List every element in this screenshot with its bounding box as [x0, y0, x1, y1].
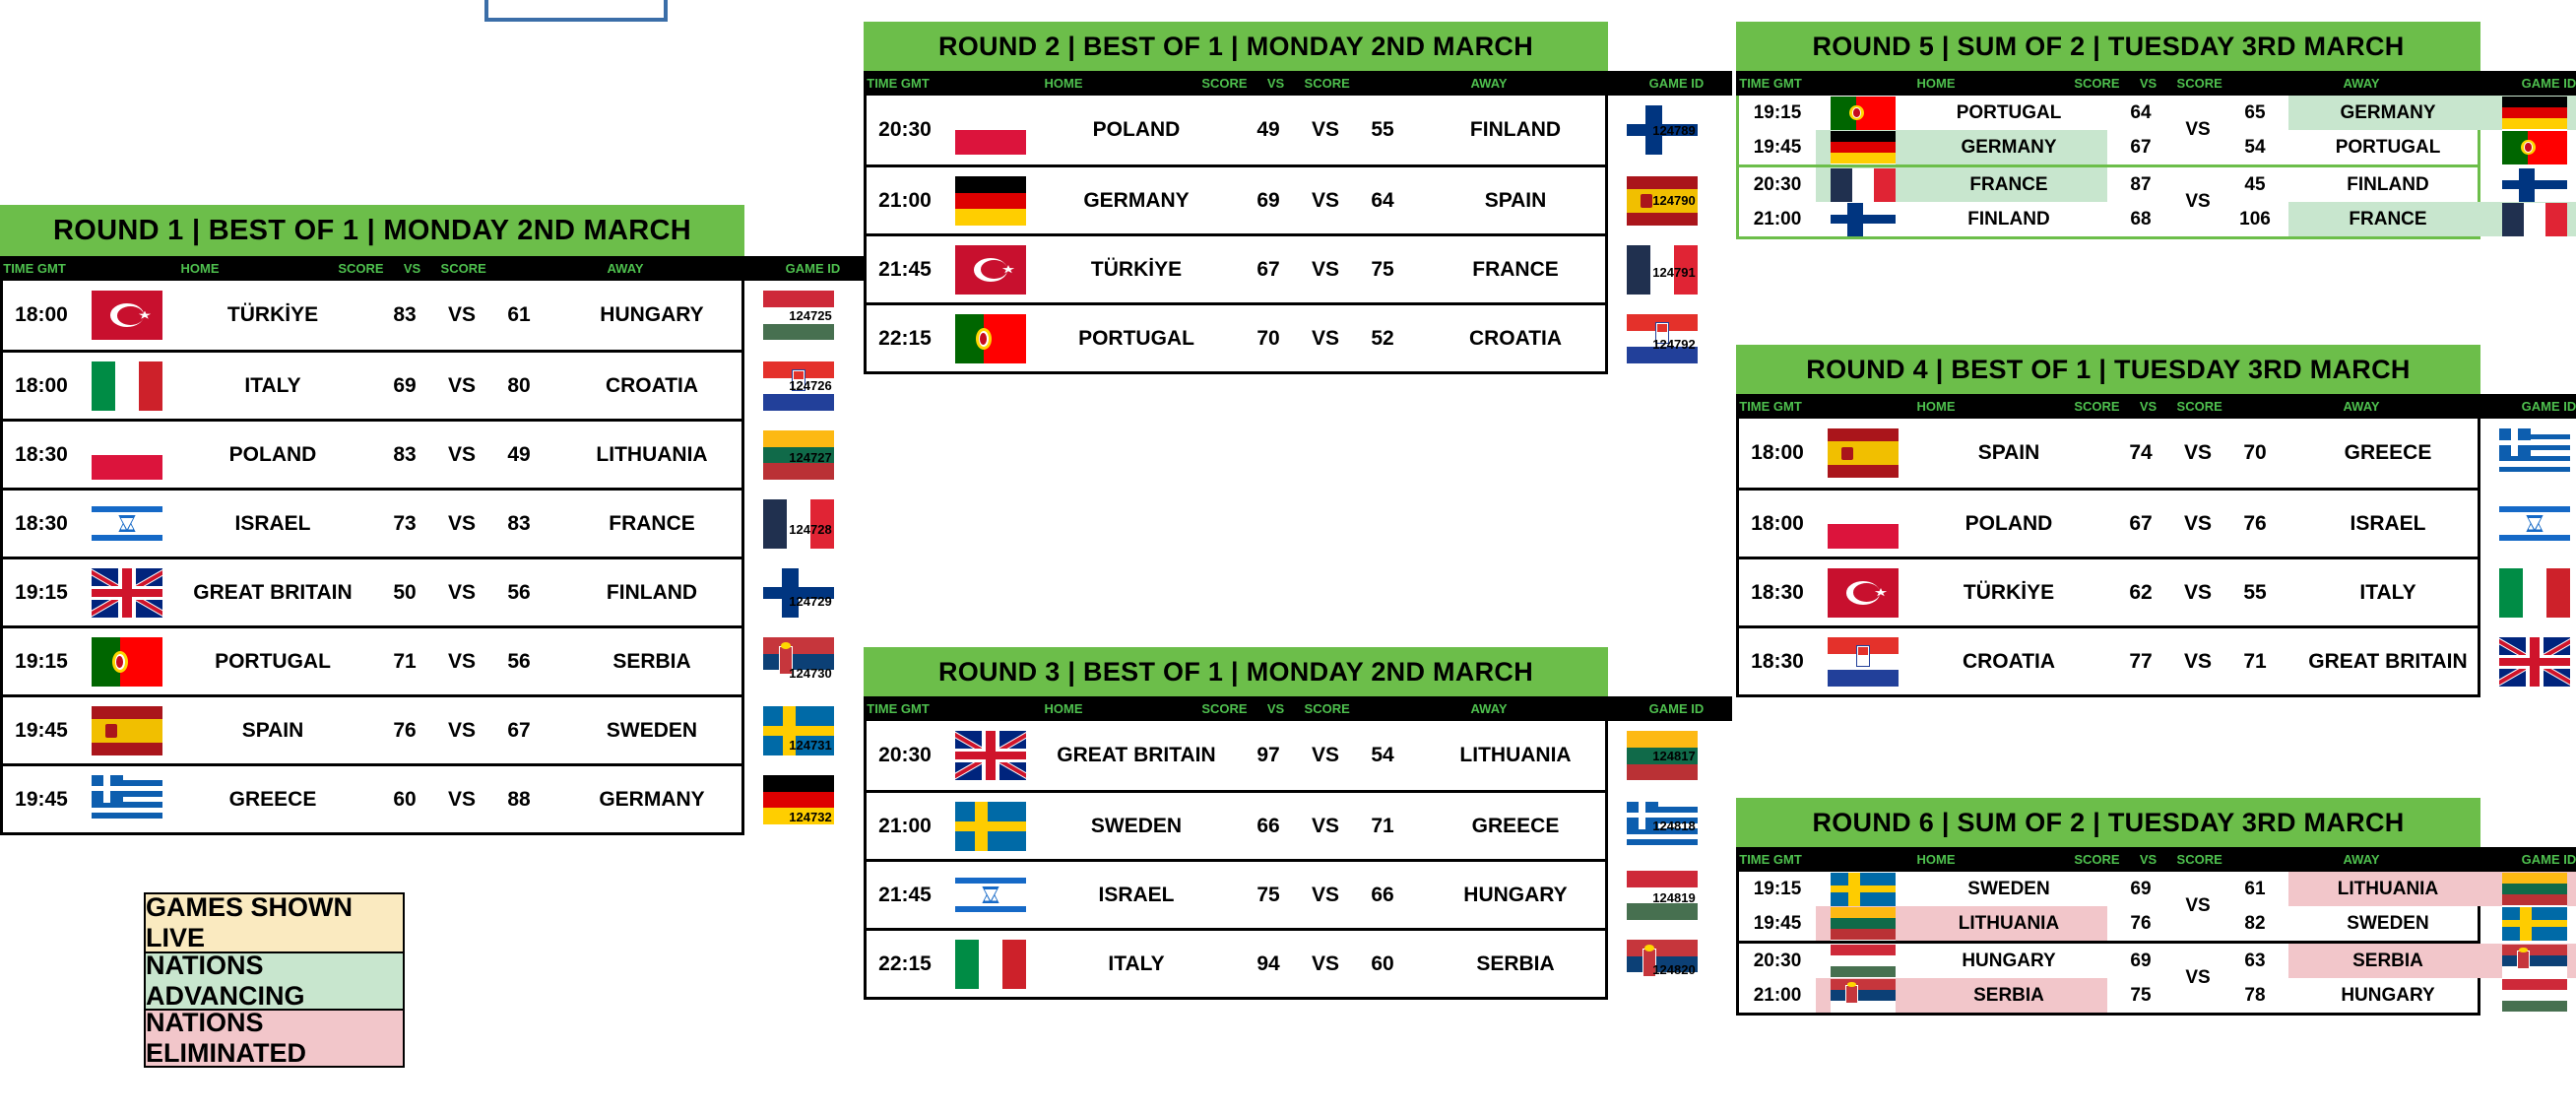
aggregate-tie: 19:15PORTUGAL6465GERMANY19:45GERMANY6754…	[1739, 96, 2478, 164]
flag-il	[92, 499, 162, 549]
home-flag-cell	[943, 96, 1038, 164]
flag-gb	[955, 731, 1026, 780]
away-team-name: FRANCE	[1416, 236, 1615, 302]
flag-se	[2502, 907, 2567, 941]
home-flag-cell	[80, 491, 174, 557]
match-time: 20:30	[867, 744, 943, 767]
home-team-name: TÜRKİYE	[1910, 559, 2107, 625]
column-header-score: SCORE	[2067, 399, 2127, 414]
away-team-name: HUNGARY	[552, 281, 751, 350]
home-team-name: SPAIN	[174, 697, 371, 763]
home-team-name: ITALY	[174, 353, 371, 419]
away-team-name: SERBIA	[552, 628, 751, 694]
home-score: 76	[2107, 913, 2174, 935]
flag-hu	[2502, 979, 2567, 1013]
home-score: 69	[2107, 951, 2174, 972]
match-row[interactable]: 21:45TÜRKİYE67VS75FRANCE	[867, 233, 1605, 302]
away-score: 65	[2222, 102, 2288, 124]
away-team-name: FRANCE	[552, 491, 751, 557]
round-block-round1: ROUND 1 | BEST OF 1 | MONDAY 2ND MARCHTI…	[0, 205, 869, 835]
away-team-name: PORTUGAL	[2288, 130, 2487, 164]
home-score: 67	[1235, 258, 1302, 282]
flag-fr	[2502, 203, 2567, 236]
home-score: 94	[1235, 952, 1302, 976]
match-time: 18:30	[1739, 650, 1816, 674]
match-time: 21:00	[867, 189, 943, 213]
home-score: 71	[371, 650, 438, 674]
match-time: 18:30	[3, 443, 80, 467]
flag-pl	[1828, 499, 1899, 549]
column-header-time: TIME GMT	[864, 701, 933, 716]
match-row[interactable]: 19:15PORTUGAL71VS56SERBIA	[3, 625, 741, 694]
column-header-time: TIME GMT	[1736, 399, 1805, 414]
away-team-name: FINLAND	[1416, 96, 1615, 164]
match-time: 20:30	[1739, 174, 1816, 196]
column-header-vs: VS	[1255, 76, 1297, 91]
flag-il	[955, 871, 1026, 920]
away-score: 61	[485, 303, 552, 327]
game-id-column: 124789124790124791124792	[1632, 96, 1716, 380]
column-header-vs: VS	[391, 261, 433, 276]
match-row[interactable]: 21:00SERBIA7578HUNGARY	[1739, 978, 2478, 1013]
away-score: 60	[1349, 952, 1416, 976]
home-flag-cell	[1816, 202, 1910, 236]
game-id-value	[2504, 488, 2576, 559]
flag-se	[955, 802, 1026, 851]
flag-pt	[1831, 97, 1896, 130]
table-column-header-row: TIME GMTHOMESCOREVSSCOREAWAYGAME ID	[0, 256, 869, 281]
match-row[interactable]: 20:30POLAND49VS55FINLAND	[867, 96, 1605, 164]
match-row[interactable]: 21:00FINLAND68106FRANCE	[1739, 202, 2478, 236]
away-team-name: SERBIA	[2288, 944, 2487, 978]
match-row[interactable]: 19:15GREAT BRITAIN50VS56FINLAND	[3, 557, 741, 625]
game-id-value: 124726	[768, 350, 853, 422]
match-row[interactable]: 18:30ISRAEL73VS83FRANCE	[3, 488, 741, 557]
home-flag-cell	[80, 766, 174, 832]
home-flag-cell	[1816, 978, 1910, 1013]
flag-it	[92, 361, 162, 411]
away-team-name: CROATIA	[1416, 305, 1615, 371]
match-time: 20:30	[867, 118, 943, 142]
away-score: 54	[2222, 137, 2288, 159]
vs-label: VS	[2174, 512, 2222, 536]
match-time: 21:45	[867, 884, 943, 907]
home-flag-cell	[1816, 944, 1910, 978]
column-header-home: HOME	[1805, 76, 2067, 91]
home-score: 67	[2107, 512, 2174, 536]
game-id-value: 124819	[1632, 862, 1716, 934]
match-row[interactable]: 18:30TÜRKİYE62VS55ITALY	[1739, 557, 2478, 625]
match-row[interactable]: 21:45ISRAEL75VS66HUNGARY	[867, 859, 1605, 928]
home-team-name: TÜRKİYE	[174, 281, 371, 350]
round-title: ROUND 1 | BEST OF 1 | MONDAY 2ND MARCH	[0, 205, 744, 256]
matches-table: 20:30POLAND49VS55FINLAND21:00GERMANY69VS…	[864, 96, 1608, 374]
game-id-column	[2504, 419, 2576, 703]
vs-label: VS	[438, 443, 485, 467]
home-team-name: POLAND	[1910, 491, 2107, 557]
vs-label: VS	[1302, 884, 1349, 907]
away-score: 54	[1349, 744, 1416, 767]
home-team-name: HUNGARY	[1910, 944, 2107, 978]
away-score: 88	[485, 788, 552, 812]
home-flag-cell	[1816, 419, 1910, 488]
away-flag-cell	[2487, 944, 2576, 978]
game-id-value: 124818	[1632, 790, 1716, 862]
column-header-home: HOME	[933, 76, 1194, 91]
match-row[interactable]: 20:30GREAT BRITAIN97VS54LITHUANIA	[867, 721, 1605, 790]
home-flag-cell	[943, 305, 1038, 371]
away-score: 52	[1349, 327, 1416, 351]
away-score: 56	[485, 650, 552, 674]
away-score: 76	[2222, 512, 2288, 536]
home-team-name: FINLAND	[1910, 202, 2107, 236]
away-flag-cell	[2487, 906, 2576, 941]
game-id-column: 1247251247261247271247281247291247301247…	[768, 281, 853, 853]
game-id-value: 124728	[768, 493, 853, 565]
away-team-name: GREECE	[1416, 793, 1615, 859]
column-header-time: TIME GMT	[0, 261, 69, 276]
match-row[interactable]: 18:00POLAND67VS76ISRAEL	[1739, 488, 2478, 557]
away-team-name: GREAT BRITAIN	[2288, 628, 2487, 694]
legend-item-live: GAMES SHOWN LIVE	[146, 894, 403, 951]
column-header-vs: VS	[1255, 701, 1297, 716]
vs-label: VS	[438, 303, 485, 327]
match-time: 19:15	[3, 581, 80, 605]
home-score: 83	[371, 443, 438, 467]
flag-pt	[955, 314, 1026, 363]
flag-es	[92, 706, 162, 755]
flag-fi	[1831, 203, 1896, 236]
home-score: 76	[371, 719, 438, 743]
home-flag-cell	[943, 862, 1038, 928]
home-team-name: SPAIN	[1910, 419, 2107, 488]
home-flag-cell	[1816, 491, 1910, 557]
home-flag-cell	[943, 167, 1038, 233]
away-team-name: SWEDEN	[2288, 906, 2487, 941]
column-header-away: AWAY	[2229, 76, 2493, 91]
home-flag-cell	[80, 559, 174, 625]
round-block-round2: ROUND 2 | BEST OF 1 | MONDAY 2ND MARCHTI…	[864, 22, 1732, 374]
aggregate-tie: 20:30FRANCE8745FINLAND21:00FINLAND68106F…	[1739, 164, 2478, 236]
column-header-score: SCORE	[2067, 76, 2127, 91]
game-id-value: 124789	[1632, 96, 1716, 164]
away-score: 55	[2222, 581, 2288, 605]
away-flag-cell	[2487, 978, 2576, 1013]
away-team-name: LITHUANIA	[2288, 872, 2487, 906]
home-flag-cell	[1816, 872, 1910, 906]
matches-table: 20:30GREAT BRITAIN97VS54LITHUANIA21:00SW…	[864, 721, 1608, 1000]
match-row[interactable]: 18:00ITALY69VS80CROATIA	[3, 350, 741, 419]
game-id-value: 124727	[768, 422, 853, 493]
flag-pl	[955, 105, 1026, 155]
game-id-value: 124792	[1632, 308, 1716, 380]
home-team-name: GREECE	[174, 766, 371, 832]
home-team-name: GERMANY	[1038, 167, 1235, 233]
vs-label: VS	[2174, 167, 2222, 236]
home-flag-cell	[1816, 130, 1910, 164]
match-time: 19:45	[1739, 913, 1816, 935]
away-score: 71	[2222, 650, 2288, 674]
home-team-name: POLAND	[1038, 96, 1235, 164]
round-block-round4: ROUND 4 | BEST OF 1 | TUESDAY 3RD MARCHT…	[1736, 345, 2576, 697]
column-header-score: SCORE	[2067, 852, 2127, 867]
away-team-name: LITHUANIA	[1416, 721, 1615, 790]
away-score: 75	[1349, 258, 1416, 282]
away-team-name: HUNGARY	[1416, 862, 1615, 928]
match-time: 18:00	[1739, 441, 1816, 465]
home-flag-cell	[1816, 167, 1910, 202]
flag-de	[2502, 97, 2567, 130]
flag-pt	[2502, 131, 2567, 164]
flag-rs	[2502, 945, 2567, 978]
game-id-value: 124725	[768, 281, 853, 350]
column-header-game_id: GAME ID	[1621, 701, 1732, 716]
match-time: 19:15	[1739, 879, 1816, 900]
column-header-away: AWAY	[2229, 852, 2493, 867]
home-flag-cell	[80, 628, 174, 694]
match-time: 22:15	[867, 327, 943, 351]
legend-item-advancing: NATIONS ADVANCING	[146, 951, 403, 1009]
column-header-time: TIME GMT	[864, 76, 933, 91]
vs-label: VS	[438, 581, 485, 605]
home-flag-cell	[1816, 96, 1910, 130]
flag-lt	[1831, 907, 1896, 941]
match-row[interactable]: 19:15PORTUGAL6465GERMANY	[1739, 96, 2478, 130]
match-row[interactable]: 19:45LITHUANIA7682SWEDEN	[1739, 906, 2478, 941]
vs-label: VS	[2174, 441, 2222, 465]
home-team-name: GERMANY	[1910, 130, 2107, 164]
flag-hr	[1828, 637, 1899, 687]
away-score: 70	[2222, 441, 2288, 465]
match-time: 19:15	[3, 650, 80, 674]
away-team-name: FINLAND	[2288, 167, 2487, 202]
column-header-game_id: GAME ID	[2493, 852, 2576, 867]
match-row[interactable]: 19:45GREECE60VS88GERMANY	[3, 763, 741, 832]
home-team-name: SERBIA	[1910, 978, 2107, 1013]
match-time: 18:30	[3, 512, 80, 536]
vs-label: VS	[1302, 327, 1349, 351]
away-team-name: ISRAEL	[2288, 491, 2487, 557]
home-score: 50	[371, 581, 438, 605]
vs-label: VS	[1302, 744, 1349, 767]
column-header-away: AWAY	[1357, 701, 1621, 716]
game-id-value	[2504, 419, 2576, 488]
flag-pl	[92, 430, 162, 480]
home-team-name: GREAT BRITAIN	[1038, 721, 1235, 790]
home-flag-cell	[1816, 906, 1910, 941]
home-flag-cell	[80, 353, 174, 419]
vs-label: VS	[1302, 118, 1349, 142]
column-header-score2: SCORE	[2169, 399, 2229, 414]
table-column-header-row: TIME GMTHOMESCOREVSSCOREAWAYGAME ID	[864, 71, 1732, 96]
legend-item-eliminated: NATIONS ELIMINATED	[146, 1009, 403, 1066]
match-time: 18:00	[1739, 512, 1816, 536]
away-team-name: GERMANY	[2288, 96, 2487, 130]
home-team-name: LITHUANIA	[1910, 906, 2107, 941]
away-team-name: FRANCE	[2288, 202, 2487, 236]
away-score: 80	[485, 374, 552, 398]
column-header-away: AWAY	[2229, 399, 2493, 414]
home-score: 83	[371, 303, 438, 327]
flag-se	[1831, 873, 1896, 906]
home-score: 62	[2107, 581, 2174, 605]
away-team-name: SPAIN	[1416, 167, 1615, 233]
home-team-name: PORTUGAL	[1038, 305, 1235, 371]
home-flag-cell	[1816, 559, 1910, 625]
match-time: 18:30	[1739, 581, 1816, 605]
game-id-value: 124820	[1632, 934, 1716, 1006]
flag-tr	[92, 291, 162, 340]
matches-table: 19:15SWEDEN6961LITHUANIA19:45LITHUANIA76…	[1736, 872, 2480, 1016]
match-row[interactable]: 18:00TÜRKİYE83VS61HUNGARY	[3, 281, 741, 350]
column-header-game_id: GAME ID	[2493, 399, 2576, 414]
home-team-name: GREAT BRITAIN	[174, 559, 371, 625]
match-row[interactable]: 18:30POLAND83VS49LITHUANIA	[3, 419, 741, 488]
round-block-round3: ROUND 3 | BEST OF 1 | MONDAY 2ND MARCHTI…	[864, 647, 1732, 1000]
vs-label: VS	[438, 650, 485, 674]
match-time: 18:00	[3, 303, 80, 327]
away-score: 67	[485, 719, 552, 743]
game-id-value	[2504, 559, 2576, 631]
match-row[interactable]: 20:30HUNGARY6963SERBIA	[1739, 944, 2478, 978]
home-score: 69	[371, 374, 438, 398]
home-score: 87	[2107, 174, 2174, 196]
home-team-name: SWEDEN	[1910, 872, 2107, 906]
vs-label: VS	[1302, 189, 1349, 213]
away-score: 63	[2222, 951, 2288, 972]
matches-table: 18:00TÜRKİYE83VS61HUNGARY18:00ITALY69VS8…	[0, 281, 744, 835]
match-time: 19:45	[3, 788, 80, 812]
away-team-name: FINLAND	[552, 559, 751, 625]
match-row[interactable]: 22:15PORTUGAL70VS52CROATIA	[867, 302, 1605, 371]
game-id-value: 124817	[1632, 721, 1716, 790]
round-block-round5: ROUND 5 | SUM OF 2 | TUESDAY 3RD MARCHTI…	[1736, 22, 2576, 239]
spreadsheet-selection-cell[interactable]	[484, 0, 668, 22]
home-score: 67	[2107, 137, 2174, 159]
match-row[interactable]: 22:15ITALY94VS60SERBIA	[867, 928, 1605, 997]
match-row[interactable]: 19:15SWEDEN6961LITHUANIA	[1739, 872, 2478, 906]
game-id-value: 124790	[1632, 164, 1716, 236]
away-team-name: CROATIA	[552, 353, 751, 419]
flag-it	[955, 940, 1026, 989]
match-row[interactable]: 18:00SPAIN74VS70GREECE	[1739, 419, 2478, 488]
away-score: 78	[2222, 985, 2288, 1007]
column-header-game_id: GAME ID	[757, 261, 869, 276]
home-score: 49	[1235, 118, 1302, 142]
home-score: 73	[371, 512, 438, 536]
home-team-name: PORTUGAL	[1910, 96, 2107, 130]
match-row[interactable]: 19:45GERMANY6754PORTUGAL	[1739, 130, 2478, 164]
home-flag-cell	[943, 793, 1038, 859]
home-flag-cell	[80, 281, 174, 350]
round-title: ROUND 3 | BEST OF 1 | MONDAY 2ND MARCH	[864, 647, 1608, 696]
home-score: 69	[2107, 879, 2174, 900]
vs-label: VS	[1302, 815, 1349, 838]
flag-fi	[2502, 168, 2567, 202]
vs-label: VS	[1302, 952, 1349, 976]
match-row[interactable]: 21:00SWEDEN66VS71GREECE	[867, 790, 1605, 859]
flag-de	[1831, 131, 1896, 164]
home-score: 60	[371, 788, 438, 812]
home-score: 66	[1235, 815, 1302, 838]
column-header-score: SCORE	[331, 261, 391, 276]
home-team-name: POLAND	[174, 422, 371, 488]
away-score: 83	[485, 512, 552, 536]
away-score: 71	[1349, 815, 1416, 838]
away-team-name: GREECE	[2288, 419, 2487, 488]
match-time: 19:45	[1739, 137, 1816, 159]
column-header-time: TIME GMT	[1736, 76, 1805, 91]
flag-rs	[1831, 979, 1896, 1013]
match-row[interactable]: 18:30CROATIA77VS71GREAT BRITAIN	[1739, 625, 2478, 694]
match-row[interactable]: 20:30FRANCE8745FINLAND	[1739, 167, 2478, 202]
home-team-name: ISRAEL	[174, 491, 371, 557]
matches-table: 18:00SPAIN74VS70GREECE18:00POLAND67VS76I…	[1736, 419, 2480, 697]
game-id-value: 124732	[768, 781, 853, 853]
home-team-name: PORTUGAL	[174, 628, 371, 694]
vs-label: VS	[2174, 650, 2222, 674]
column-header-away: AWAY	[1357, 76, 1621, 91]
match-time: 20:30	[1739, 951, 1816, 972]
column-header-away: AWAY	[493, 261, 757, 276]
home-score: 75	[1235, 884, 1302, 907]
home-score: 77	[2107, 650, 2174, 674]
match-row[interactable]: 19:45SPAIN76VS67SWEDEN	[3, 694, 741, 763]
column-header-vs: VS	[2127, 76, 2169, 91]
column-header-game_id: GAME ID	[1621, 76, 1732, 91]
vs-label: VS	[438, 512, 485, 536]
flag-tr	[955, 245, 1026, 295]
home-score: 70	[1235, 327, 1302, 351]
home-score: 74	[2107, 441, 2174, 465]
away-flag-cell	[2487, 130, 2576, 164]
legend: GAMES SHOWN LIVE NATIONS ADVANCING NATIO…	[144, 892, 405, 1068]
vs-label: VS	[1302, 258, 1349, 282]
home-team-name: SWEDEN	[1038, 793, 1235, 859]
home-score: 75	[2107, 985, 2174, 1007]
match-time: 21:00	[1739, 209, 1816, 230]
game-id-value: 124729	[768, 565, 853, 637]
vs-label: VS	[2174, 872, 2222, 941]
flag-gr	[92, 775, 162, 824]
flag-tr	[1828, 568, 1899, 618]
table-column-header-row: TIME GMTHOMESCOREVSSCOREAWAYGAME ID	[1736, 394, 2576, 419]
home-team-name: ISRAEL	[1038, 862, 1235, 928]
match-time: 21:45	[867, 258, 943, 282]
match-row[interactable]: 21:00GERMANY69VS64SPAIN	[867, 164, 1605, 233]
flag-pt	[92, 637, 162, 687]
vs-label: VS	[2174, 96, 2222, 164]
game-id-value: 124730	[768, 637, 853, 709]
column-header-score2: SCORE	[433, 261, 493, 276]
aggregate-tie: 20:30HUNGARY6963SERBIA21:00SERBIA7578HUN…	[1739, 941, 2478, 1013]
away-score: 56	[485, 581, 552, 605]
table-column-header-row: TIME GMTHOMESCOREVSSCOREAWAYGAME ID	[864, 696, 1732, 721]
home-flag-cell	[80, 422, 174, 488]
round-title: ROUND 4 | BEST OF 1 | TUESDAY 3RD MARCH	[1736, 345, 2480, 394]
game-id-value	[2504, 631, 2576, 703]
vs-label: VS	[2174, 944, 2222, 1013]
away-score: 64	[1349, 189, 1416, 213]
flag-es	[1828, 428, 1899, 478]
aggregate-tie: 19:15SWEDEN6961LITHUANIA19:45LITHUANIA76…	[1739, 872, 2478, 941]
round-title: ROUND 2 | BEST OF 1 | MONDAY 2ND MARCH	[864, 22, 1608, 71]
column-header-home: HOME	[69, 261, 331, 276]
away-flag-cell	[2487, 872, 2576, 906]
round-title: ROUND 5 | SUM OF 2 | TUESDAY 3RD MARCH	[1736, 22, 2480, 71]
match-time: 21:00	[1739, 985, 1816, 1007]
vs-label: VS	[438, 788, 485, 812]
